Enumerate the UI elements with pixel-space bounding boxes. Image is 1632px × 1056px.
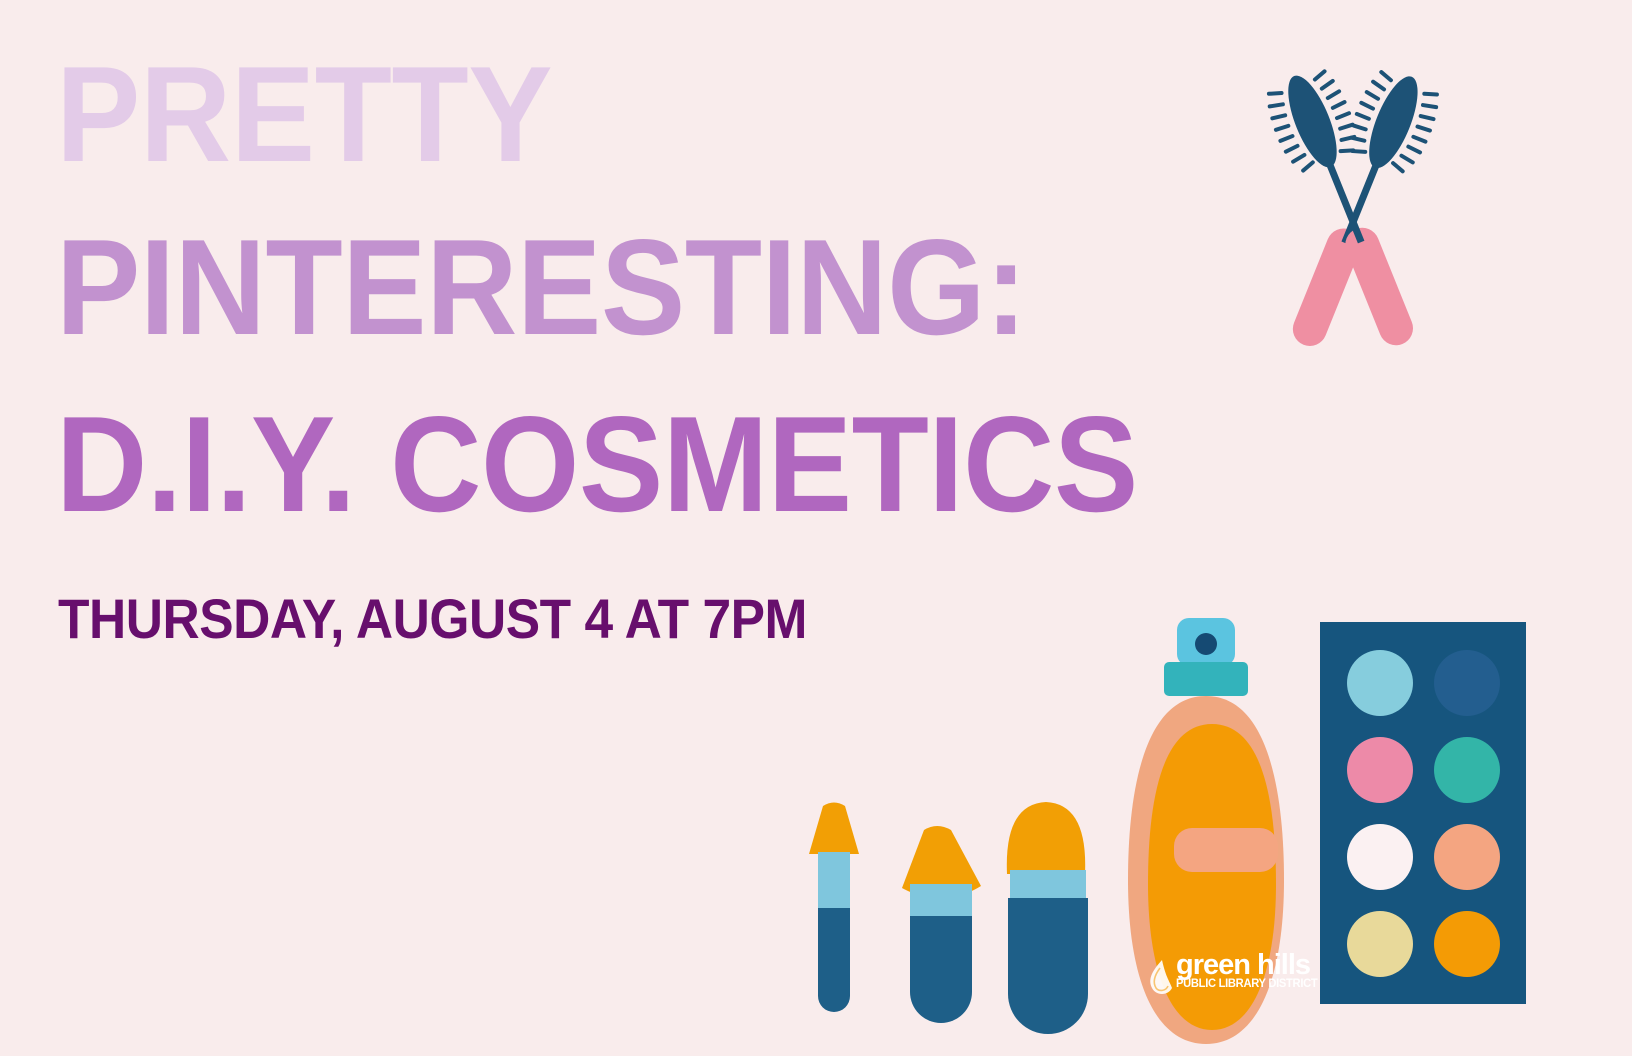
headline-line-3: D.I.Y. COSMETICS [56, 352, 1153, 529]
palette-pan-navy-blue [1434, 650, 1500, 716]
bottle-label-bar [1174, 828, 1278, 872]
headline-line-2: PINTERESTING: [56, 179, 1153, 352]
palette-pan-light-blue [1347, 650, 1413, 716]
mascara-wand-icon [1232, 62, 1472, 382]
makeup-brush-3 [1007, 802, 1088, 1034]
makeup-brush-2 [902, 826, 981, 1023]
palette-pan-peach [1434, 824, 1500, 890]
spray-bottle-icon [1122, 612, 1312, 1056]
palette-pan-pink [1347, 737, 1413, 803]
palette-pan-grid [1320, 622, 1526, 1004]
palette-pan-teal [1434, 737, 1500, 803]
headline-line-1: PRETTY [56, 40, 1153, 179]
palette-pan-white [1347, 824, 1413, 890]
eyeshadow-palette-icon [1320, 622, 1526, 1004]
event-datetime: THURSDAY, AUGUST 4 AT 7PM [58, 586, 807, 651]
event-poster: PRETTY PINTERESTING: D.I.Y. COSMETICS TH… [0, 0, 1632, 1056]
makeup-brush-1 [809, 803, 859, 1013]
bottle-cap [1164, 662, 1248, 696]
headline-block: PRETTY PINTERESTING: D.I.Y. COSMETICS [56, 40, 1236, 530]
bottle-nozzle-dot [1195, 633, 1217, 655]
makeup-brush-icon [782, 752, 1092, 1056]
bottle-body [1148, 724, 1276, 1030]
palette-pan-cream [1347, 911, 1413, 977]
palette-pan-orange [1434, 911, 1500, 977]
